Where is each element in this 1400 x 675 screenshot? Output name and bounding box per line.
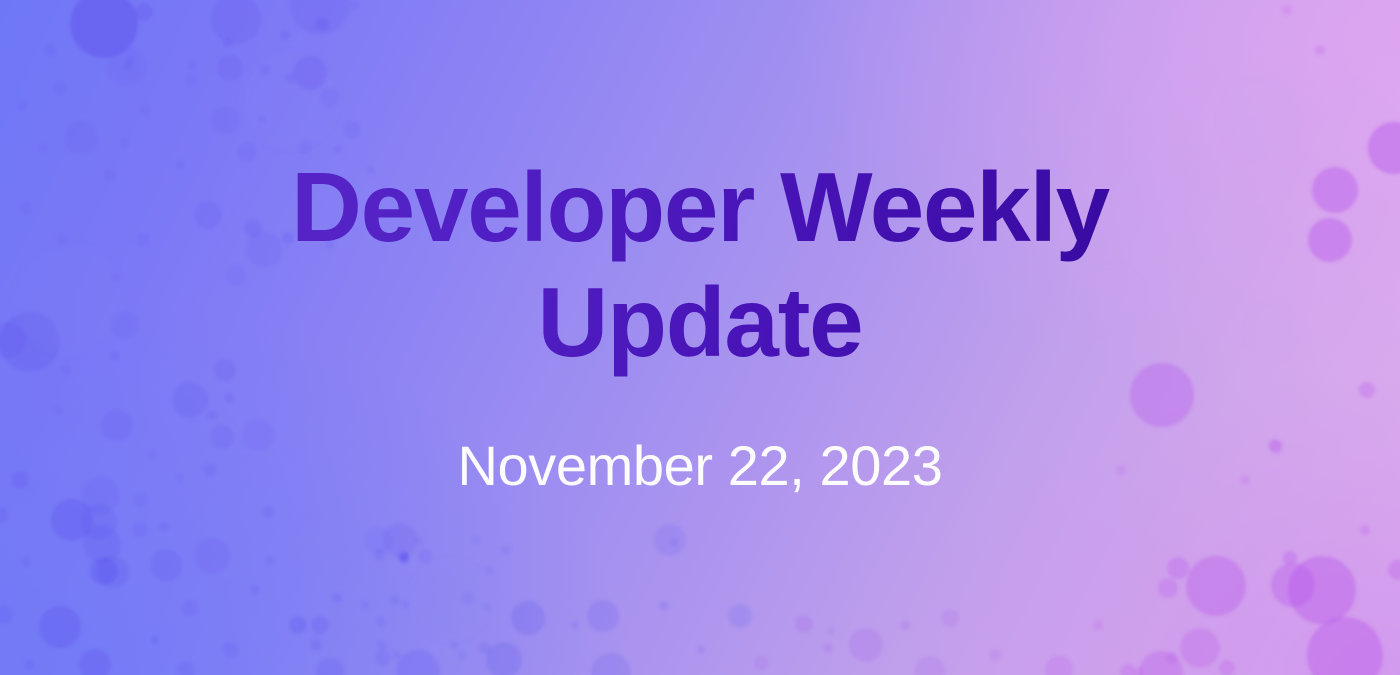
page-title: Developer Weekly Update (170, 150, 1230, 379)
banner-date: November 22, 2023 (457, 435, 942, 497)
developer-weekly-update-banner: Developer Weekly Update November 22, 202… (0, 0, 1400, 675)
banner-content: Developer Weekly Update November 22, 202… (0, 0, 1400, 675)
